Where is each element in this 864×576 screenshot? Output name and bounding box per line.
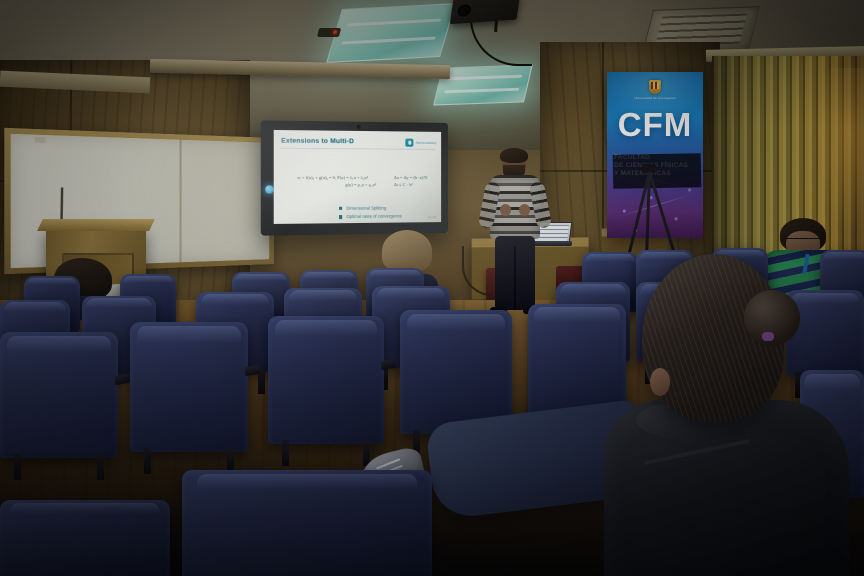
slide-bullet: Optimal rates of convergence — [339, 213, 402, 222]
presenter-trousers — [495, 236, 535, 310]
hair-tie — [762, 332, 774, 341]
whiteboard-clip — [34, 137, 45, 143]
slide-logo: Nanomodeling — [406, 139, 436, 147]
presenter-hair — [500, 148, 528, 163]
podium-top — [37, 219, 155, 231]
slide-logo-mark-icon — [406, 139, 414, 147]
audience-hair — [382, 230, 432, 272]
equation-right-group: Δx = Δy = (b−a)/N Δt ≤ C · h² — [394, 174, 427, 189]
slide-title: Extensions to Multi-D — [281, 137, 411, 145]
projector-lens-icon — [457, 4, 472, 17]
slide-title-rule — [280, 148, 435, 150]
auditorium-seat[interactable] — [268, 316, 384, 444]
slide-page-number: 12 / 24 — [428, 215, 436, 219]
jacket-fold — [644, 439, 750, 465]
wall-display-screen[interactable]: Extensions to Multi-D Nanomodeling uₜ + … — [261, 120, 448, 235]
presenter-hand-left — [500, 204, 511, 216]
display-power-led-icon — [265, 185, 274, 193]
lecture-hall-photo: Extensions to Multi-D Nanomodeling uₜ + … — [0, 0, 864, 576]
slide-bullet-list: Dimensional Splitting Optimal rates of c… — [297, 204, 402, 222]
whiteboard-panel-seam — [180, 140, 182, 263]
presenter-hand-right — [519, 204, 530, 216]
auditorium-seat[interactable] — [528, 304, 626, 418]
slide-equations: uₜ + f(u)ₓ + g(u)ᵧ = 0, F(u) = λ₁u + λ₂u… — [297, 174, 431, 190]
eyeglasses-icon — [782, 238, 822, 246]
auditorium-seat[interactable] — [400, 310, 512, 434]
presenter — [486, 150, 544, 310]
display-camera-icon — [357, 125, 361, 129]
auditorium-seat[interactable] — [0, 500, 170, 576]
auditorium-seat[interactable] — [130, 322, 248, 452]
display-bezel: Extensions to Multi-D Nanomodeling uₜ + … — [261, 120, 448, 235]
university-crest-icon — [649, 80, 661, 94]
equation-right-1: Δx = Δy = (b−a)/N — [394, 174, 427, 182]
foreground-attendee-ear — [650, 368, 670, 396]
equation-right-2: Δt ≤ C · h² — [394, 182, 427, 190]
banner-acronym: CFM — [607, 108, 703, 141]
foreground-attendee — [614, 250, 864, 576]
auditorium-seat[interactable] — [0, 332, 118, 458]
banner-university-name: Universidad de Concepción — [607, 96, 703, 100]
slide-logo-text: Nanomodeling — [416, 141, 436, 145]
slide-surface: Extensions to Multi-D Nanomodeling uₜ + … — [274, 130, 441, 224]
auditorium-seat[interactable] — [182, 470, 432, 576]
